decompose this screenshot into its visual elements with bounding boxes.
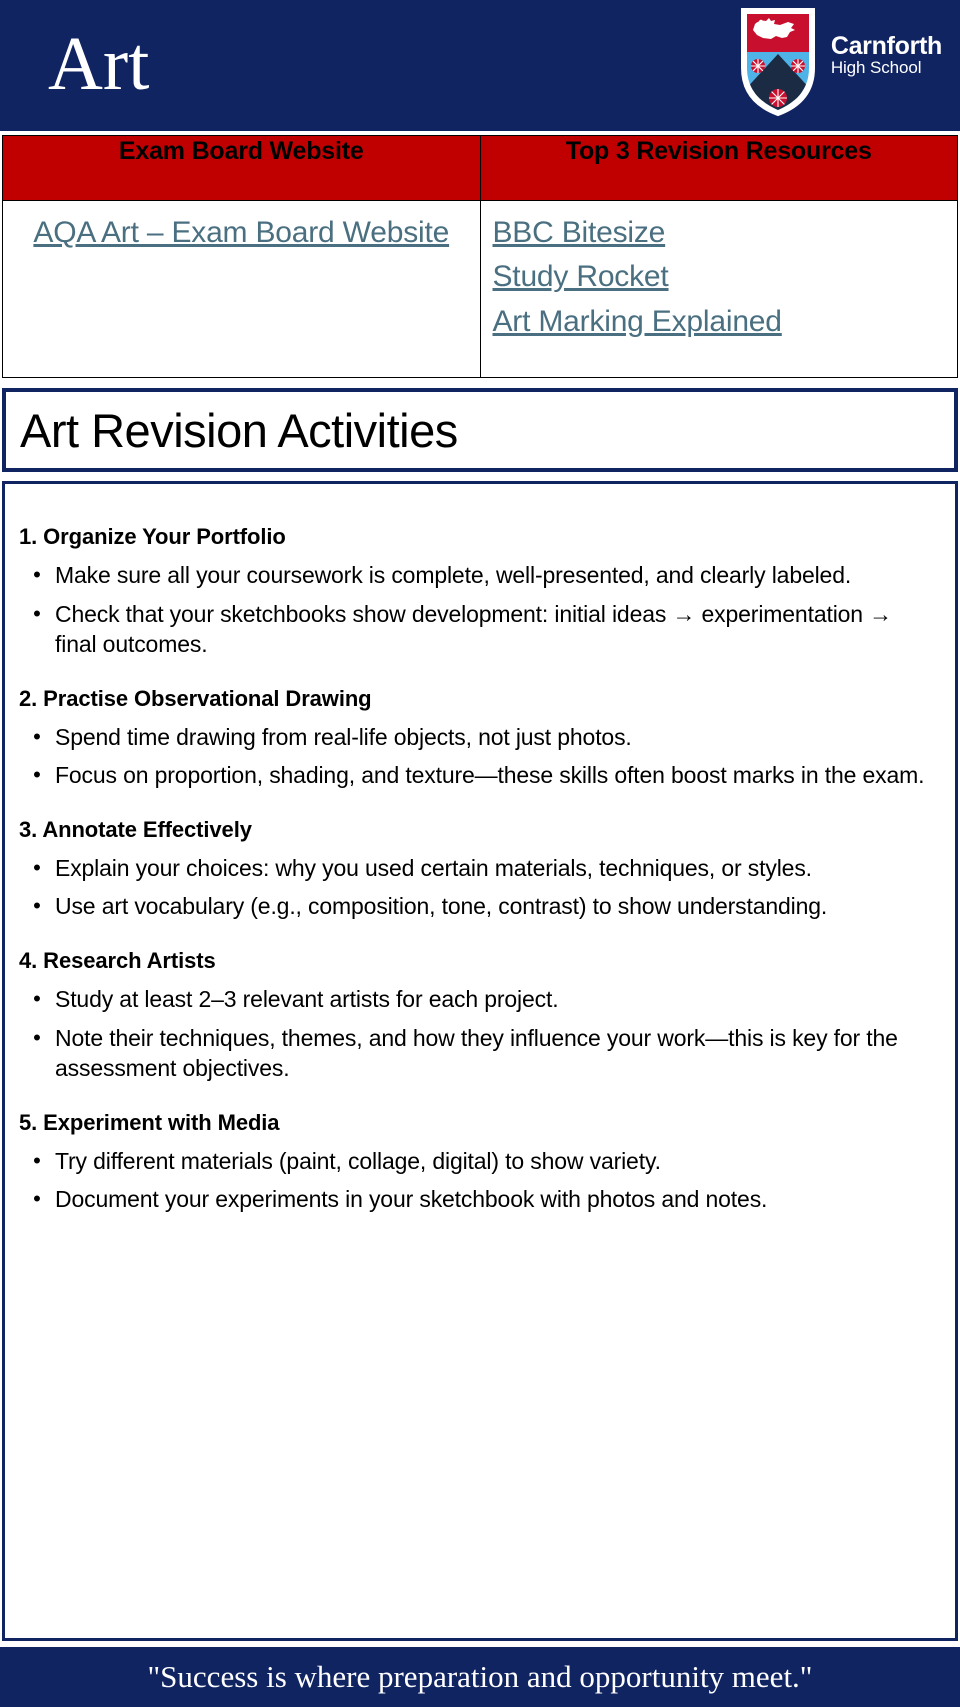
page-header: Art	[0, 0, 960, 131]
list-item: • Document your experiments in your sket…	[19, 1184, 937, 1215]
school-name: Carnforth	[831, 33, 942, 59]
list-item: • Explain your choices: why you used cer…	[19, 853, 937, 884]
footer-quote: "Success is where preparation and opport…	[148, 1659, 813, 1695]
table-header-row: Exam Board Website Top 3 Revision Resour…	[3, 136, 958, 201]
activities-panel: 1. Organize Your Portfolio • Make sure a…	[2, 481, 958, 1641]
list-item: • Try different materials (paint, collag…	[19, 1146, 937, 1177]
activity-heading: 2. Practise Observational Drawing	[19, 686, 937, 712]
column-header-revision-resources: Top 3 Revision Resources	[480, 136, 958, 201]
activity-heading: 5. Experiment with Media	[19, 1110, 937, 1136]
bullet-dot-icon: •	[19, 853, 55, 882]
revision-links-cell: BBC Bitesize Study Rocket Art Marking Ex…	[480, 201, 958, 378]
bullet-dot-icon: •	[19, 1146, 55, 1175]
bullet-dot-icon: •	[19, 1184, 55, 1213]
activity-bullet-text: Focus on proportion, shading, and textur…	[55, 760, 937, 791]
bullet-dot-icon: •	[19, 760, 55, 789]
revision-poster: Art	[0, 0, 960, 1707]
activity-bullet-text: Try different materials (paint, collage,…	[55, 1146, 937, 1177]
bullet-dot-icon: •	[19, 984, 55, 1013]
link-aqa-art-exam-board-website[interactable]: AQA Art – Exam Board Website	[19, 211, 464, 255]
list-item: • Spend time drawing from real-life obje…	[19, 722, 937, 753]
activity-heading: 3. Annotate Effectively	[19, 817, 937, 843]
activity-item: 3. Annotate Effectively • Explain your c…	[19, 817, 937, 922]
bullet-dot-icon: •	[19, 599, 55, 628]
school-shield-crest-icon	[739, 6, 817, 118]
exam-board-links-cell: AQA Art – Exam Board Website	[3, 201, 481, 378]
activity-bullet-text: Check that your sketchbooks show develop…	[55, 599, 937, 660]
activity-bullet-text: Document your experiments in your sketch…	[55, 1184, 937, 1215]
column-header-exam-board: Exam Board Website	[3, 136, 481, 201]
list-item: • Use art vocabulary (e.g., composition,…	[19, 891, 937, 922]
link-art-marking-explained[interactable]: Art Marking Explained	[493, 300, 942, 344]
activity-bullet-text: Study at least 2–3 relevant artists for …	[55, 984, 937, 1015]
list-item: • Study at least 2–3 relevant artists fo…	[19, 984, 937, 1015]
link-bbc-bitesize[interactable]: BBC Bitesize	[493, 211, 942, 255]
activity-item: 1. Organize Your Portfolio • Make sure a…	[19, 524, 937, 660]
school-branding: Carnforth High School	[739, 6, 942, 118]
activity-item: 2. Practise Observational Drawing • Spen…	[19, 686, 937, 791]
activity-bullet-text: Note their techniques, themes, and how t…	[55, 1023, 937, 1084]
activity-item: 5. Experiment with Media • Try different…	[19, 1110, 937, 1215]
resources-table: Exam Board Website Top 3 Revision Resour…	[2, 135, 958, 378]
school-subtitle: High School	[831, 59, 942, 77]
bullet-dot-icon: •	[19, 1023, 55, 1052]
link-study-rocket[interactable]: Study Rocket	[493, 255, 942, 299]
activity-bullet-text: Use art vocabulary (e.g., composition, t…	[55, 891, 937, 922]
bullet-dot-icon: •	[19, 722, 55, 751]
section-title-box: Art Revision Activities	[2, 388, 958, 472]
activity-bullet-text: Spend time drawing from real-life object…	[55, 722, 937, 753]
activity-bullet-text: Explain your choices: why you used certa…	[55, 853, 937, 884]
activity-heading: 1. Organize Your Portfolio	[19, 524, 937, 550]
activity-bullet-text: Make sure all your coursework is complet…	[55, 560, 937, 591]
activity-item: 4. Research Artists • Study at least 2–3…	[19, 948, 937, 1084]
school-name-block: Carnforth High School	[831, 33, 942, 91]
section-title: Art Revision Activities	[6, 403, 458, 458]
list-item: • Check that your sketchbooks show devel…	[19, 599, 937, 660]
bullet-dot-icon: •	[19, 560, 55, 589]
list-item: • Note their techniques, themes, and how…	[19, 1023, 937, 1084]
subject-title: Art	[48, 26, 149, 102]
bullet-dot-icon: •	[19, 891, 55, 920]
list-item: • Focus on proportion, shading, and text…	[19, 760, 937, 791]
page-footer: "Success is where preparation and opport…	[0, 1647, 960, 1707]
activity-heading: 4. Research Artists	[19, 948, 937, 974]
list-item: • Make sure all your coursework is compl…	[19, 560, 937, 591]
table-row: AQA Art – Exam Board Website BBC Bitesiz…	[3, 201, 958, 378]
